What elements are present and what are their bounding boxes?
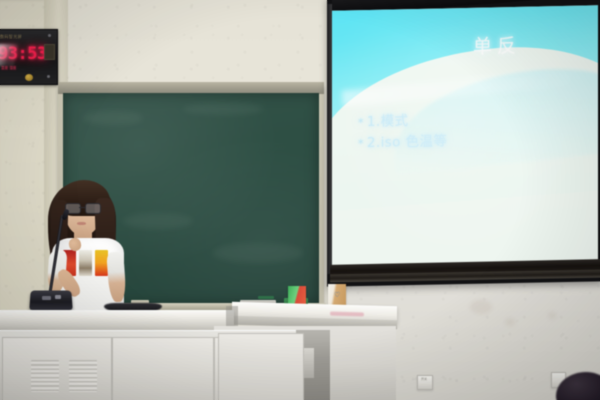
chalk-smudge [83, 111, 143, 125]
classroom-photo: 数码智光屏 93:53 温度 湿度 单反 *1.模式 *2.iso 色温等 [0, 0, 600, 400]
cabinet-vent [31, 360, 59, 392]
cabinet-door[interactable] [218, 333, 304, 400]
cabinet-vent [69, 360, 97, 392]
presenter-mouth [77, 222, 86, 225]
wall-stain [470, 300, 492, 314]
chalk-smudge [183, 103, 263, 115]
microphone-base [29, 291, 73, 311]
chalk-smudge [213, 243, 303, 263]
bullet-marker-icon: * [358, 137, 364, 150]
glasses-icon [65, 203, 101, 213]
clock-indicator-dot [47, 75, 50, 78]
bullet-text: 2.iso 色温等 [367, 133, 447, 151]
projected-slide: 单反 *1.模式 *2.iso 色温等 [332, 5, 598, 276]
clock-header-text: 数码智光屏 [0, 32, 50, 41]
shirt-graphic-panel-center [79, 250, 92, 276]
glasses-lens-right [85, 203, 101, 214]
bullet-marker-icon: * [358, 116, 364, 129]
bullet-text: 1.模式 [367, 113, 408, 130]
clock-badge [25, 74, 33, 81]
wall-stain [505, 318, 515, 326]
green-marker [258, 296, 274, 299]
clock-indicator-dot [48, 34, 51, 37]
cabinet-door[interactable] [112, 337, 214, 400]
heart-icon: ♡ [334, 292, 341, 299]
microphone-button[interactable] [42, 296, 51, 300]
clock-side-module [44, 44, 55, 60]
slide-bullet-list: *1.模式 *2.iso 色温等 [358, 108, 578, 155]
wall-switch-label: 开关 [418, 377, 430, 381]
cabinet-door[interactable] [2, 337, 112, 400]
microphone-button-secondary[interactable] [55, 295, 61, 299]
slide-title: 单反 [442, 34, 552, 58]
wall-stain [548, 312, 556, 319]
